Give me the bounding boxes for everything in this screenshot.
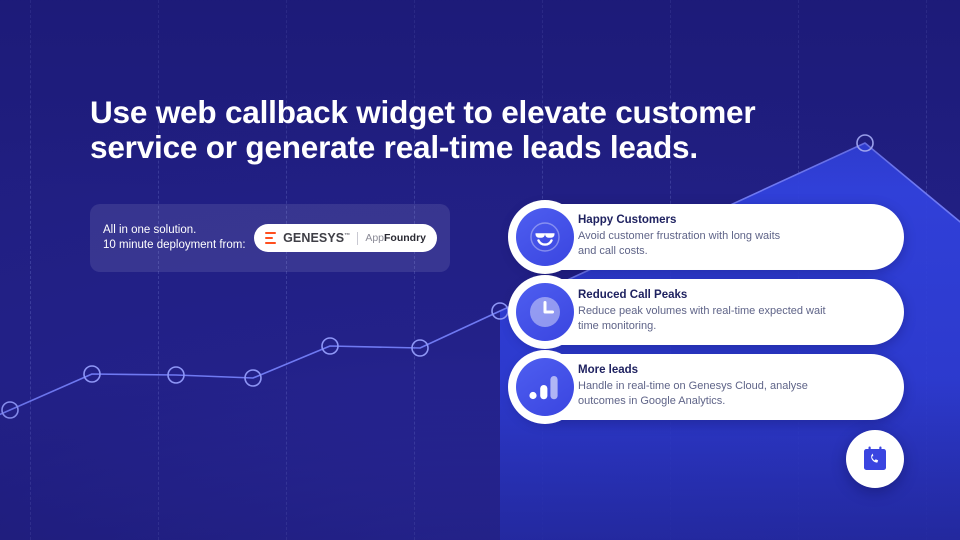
card-description-line: and call costs. — [578, 244, 888, 259]
card-description: Reduce peak volumes with real-time expec… — [578, 304, 888, 333]
promo-line-2: 10 minute deployment from: — [103, 238, 254, 253]
genesys-mark-icon — [265, 232, 276, 245]
appfoundry-wordmark: AppFoundry — [365, 232, 426, 244]
card-description: Handle in real-time on Genesys Cloud, an… — [578, 379, 888, 408]
card-title: More leads — [578, 363, 888, 378]
card-description: Avoid customer frustration with long wai… — [578, 229, 888, 258]
feature-card-more-leads[interactable]: More leads Handle in real-time on Genesy… — [512, 354, 904, 420]
clock-icon — [516, 283, 574, 341]
promo-badge: All in one solution. 10 minute deploymen… — [90, 204, 450, 272]
trademark-symbol: ™ — [344, 233, 350, 239]
genesys-appfoundry-logo: GENESYS™ AppFoundry — [254, 224, 437, 252]
promo-text: All in one solution. 10 minute deploymen… — [103, 223, 254, 253]
appfoundry-foundry: Foundry — [384, 232, 426, 244]
smiley-sunglasses-icon — [516, 208, 574, 266]
card-icon-wrapper — [508, 200, 582, 274]
bar-chart-icon — [516, 358, 574, 416]
appfoundry-app: App — [365, 232, 384, 244]
feature-card-reduced-call-peaks[interactable]: Reduced Call Peaks Reduce peak volumes w… — [512, 279, 904, 345]
feature-card-happy-customers[interactable]: Happy Customers Avoid customer frustrati… — [512, 204, 904, 270]
card-icon-wrapper — [508, 275, 582, 349]
card-body: Happy Customers Avoid customer frustrati… — [578, 213, 888, 258]
callback-fab-button[interactable] — [846, 430, 904, 488]
card-description-line: outcomes in Google Analytics. — [578, 394, 888, 409]
card-description-line: time monitoring. — [578, 319, 888, 334]
card-title: Reduced Call Peaks — [578, 288, 888, 303]
card-icon-wrapper — [508, 350, 582, 424]
card-body: More leads Handle in real-time on Genesy… — [578, 363, 888, 408]
card-description-line: Reduce peak volumes with real-time expec… — [578, 304, 888, 319]
slide-canvas: Use web callback widget to elevate custo… — [0, 0, 960, 540]
logo-divider — [357, 232, 358, 245]
card-body: Reduced Call Peaks Reduce peak volumes w… — [578, 288, 888, 333]
card-title: Happy Customers — [578, 213, 888, 228]
promo-line-1: All in one solution. — [103, 223, 254, 238]
genesys-wordmark: GENESYS™ — [283, 231, 350, 245]
phone-callback-icon — [860, 444, 890, 474]
page-title: Use web callback widget to elevate custo… — [90, 95, 790, 165]
card-description-line: Avoid customer frustration with long wai… — [578, 229, 888, 244]
card-description-line: Handle in real-time on Genesys Cloud, an… — [578, 379, 888, 394]
